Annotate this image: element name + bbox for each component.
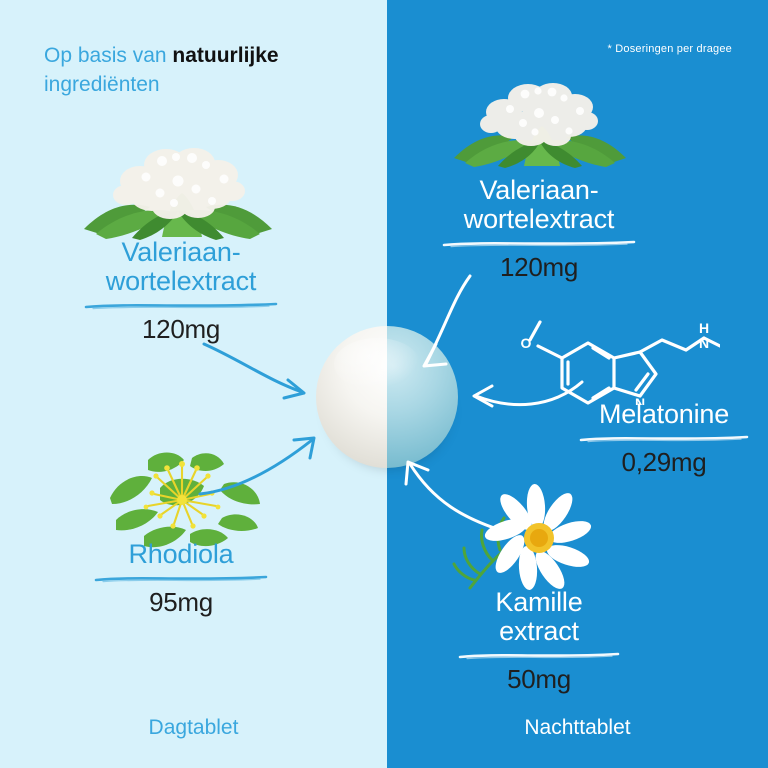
header-text-part-2: ingrediënten [44, 73, 160, 96]
molecule-label-n-amide: N [699, 335, 709, 351]
ingredient-valeriaan-day: Valeriaan- wortelextract 120mg [63, 238, 299, 343]
ingredient-dose: 95mg [63, 588, 299, 616]
valerian-plant-icon [66, 137, 296, 252]
molecule-label-o: O [521, 335, 532, 351]
ingredient-name: Valeriaan- wortelextract [421, 176, 657, 234]
ingredient-dose: 120mg [63, 315, 299, 343]
chamomile-flower-art [440, 470, 600, 595]
melatonin-molecule-art: O N H H N [490, 300, 720, 405]
night-tablet-label: Nachttablet [387, 716, 768, 740]
ingredient-dose: 50mg [421, 665, 657, 693]
ingredient-name: Valeriaan- wortelextract [63, 238, 299, 296]
tablet-night-half [387, 326, 458, 468]
tablet-day-half [316, 326, 387, 468]
hand-drawn-underline [63, 301, 299, 313]
ingredient-rhodiola-day: Rhodiola 95mg [63, 540, 299, 616]
header-text-part-1: Op basis van [44, 44, 172, 67]
valerian-plant-art-day [66, 137, 296, 252]
ingredient-name: Rhodiola [63, 540, 299, 569]
chamomile-flower-icon [440, 470, 600, 595]
page-title: Op basis van natuurlijke ingrediënten [44, 42, 344, 100]
hand-drawn-underline [546, 434, 768, 446]
valerian-plant-icon [440, 74, 640, 178]
hand-drawn-underline [421, 651, 657, 663]
day-tablet-label: Dagtablet [0, 716, 387, 740]
molecule-label-h-amide: H [699, 320, 709, 336]
ingredient-name: Melatonine [546, 400, 768, 429]
header-text-bold: natuurlijke [172, 44, 278, 67]
melatonin-molecule-icon: O N H H N [490, 300, 720, 405]
hand-drawn-underline [63, 574, 299, 586]
ingredient-name: Kamille extract [421, 588, 657, 646]
ingredient-valeriaan-night: Valeriaan- wortelextract 120mg [421, 176, 657, 281]
tablet-sphere [316, 326, 458, 468]
tablet-body [316, 326, 458, 468]
hand-drawn-underline [421, 239, 657, 251]
dosage-footnote: * Doseringen per dragee [608, 43, 732, 55]
ingredient-kamille-night: Kamille extract 50mg [421, 588, 657, 693]
ingredient-dose: 120mg [421, 253, 657, 281]
valerian-plant-art-night [440, 74, 640, 178]
infographic-canvas: Op basis van natuurlijke ingrediënten * … [0, 0, 768, 768]
ingredient-melatonine-night: Melatonine 0,29mg [546, 400, 768, 476]
